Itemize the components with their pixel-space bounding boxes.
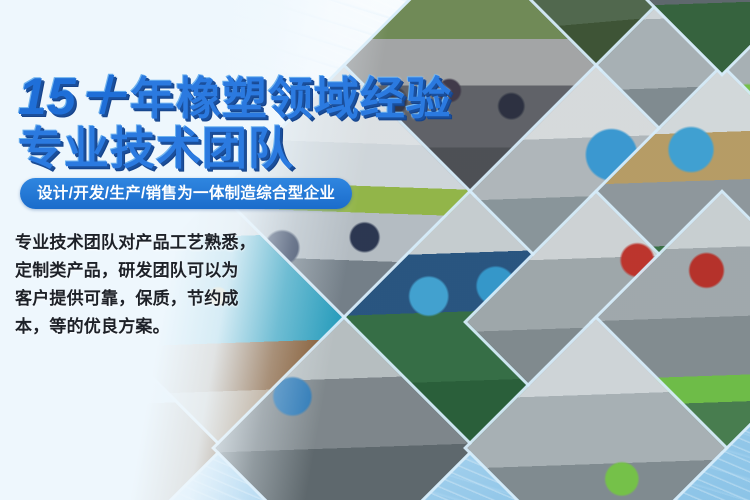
body-line: 定制类产品，研发团队可以为 (15, 257, 285, 285)
body-line: 本，等的优良方案。 (15, 313, 285, 341)
text-content-block: 15＋年橡塑领域经验 专业技术团队 设计/开发/生产/销售为一体制造综合型企业 … (0, 0, 460, 500)
body-paragraph: 专业技术团队对产品工艺熟悉， 定制类产品，研发团队可以为 客户提供可靠，保质，节… (15, 229, 285, 341)
body-line: 专业技术团队对产品工艺熟悉， (15, 229, 285, 257)
headline-secondary: 专业技术团队 (18, 112, 294, 177)
tagline-pill: 设计/开发/生产/销售为一体制造综合型企业 (20, 178, 352, 209)
company-promo-banner: 15＋年橡塑领域经验 专业技术团队 设计/开发/生产/销售为一体制造综合型企业 … (0, 0, 750, 500)
body-line: 客户提供可靠，保质，节约成 (15, 285, 285, 313)
